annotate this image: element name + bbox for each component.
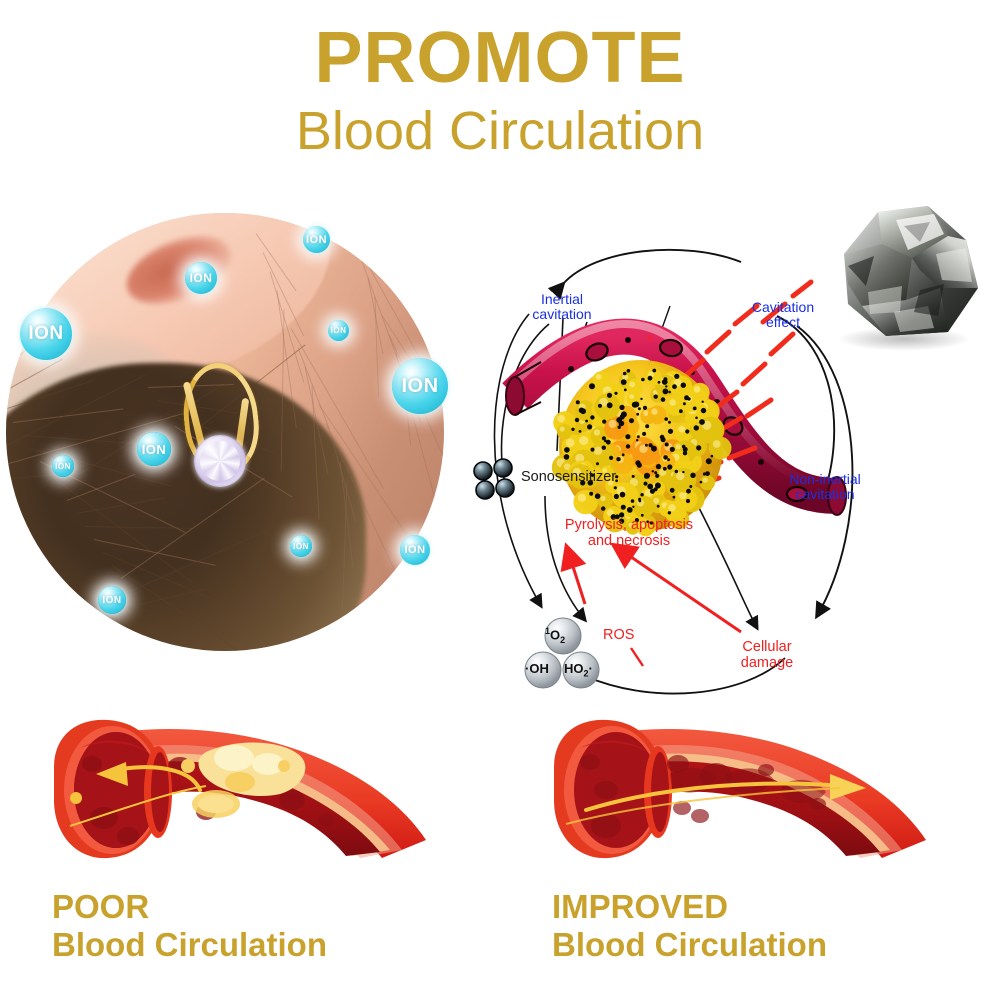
ion-bubble: ION [20,308,72,360]
label-sonosensitizer: Sonosensitizer [521,470,616,486]
improved-circulation-vessel-illustration [530,708,950,868]
poor-caption-top: POOR [52,890,327,924]
improved-caption-bottom: Blood Circulation [552,927,827,963]
ion-bubble: ION [328,320,349,341]
label-line2: cavitation [532,306,591,322]
ion-bubble: ION [392,358,448,414]
label-line1: Cavitation [752,299,814,315]
infographic-root: PROMOTE Blood Circulation IONIONIONIONIO… [0,0,1000,1000]
label-line1: Inertial [541,291,583,307]
poor-circulation-caption: POOR Blood Circulation [52,890,327,963]
improved-circulation-caption: IMPROVED Blood Circulation [552,890,827,963]
label-line1: Pyrolysis, apoptosis [565,517,693,533]
diagram-graphics [445,196,915,696]
label-pyrolysis-apoptosis-necrosis: Pyrolysis, apoptosis and necrosis [549,518,709,549]
sonodynamic-diagram: Inertial cavitation Cavitation effect No… [445,196,915,696]
ion-bubble: ION [290,535,312,557]
ion-bubble: ION [303,226,330,253]
label-line1: Non-inertial [789,471,861,487]
ion-bubble: ION [137,432,171,466]
radical-dot: · [589,661,593,676]
poor-caption-bottom: Blood Circulation [52,927,327,963]
label-cavitation-effect: Cavitation effect [735,300,831,330]
ear-photo [6,213,444,651]
molecule-hydroperoxyl: HO2· [564,662,593,679]
label-line2: cavitation [795,486,854,502]
molecule-hydroxyl-radical: ·OH [525,662,549,676]
earring-gemstone [194,435,246,487]
ion-bubble: ION [400,535,430,565]
base: O [550,627,560,642]
label-inertial-cavitation: Inertial cavitation [519,292,605,322]
page-subtitle: Blood Circulation [0,100,1000,162]
label-ros: ROS [603,628,634,644]
label-line2: effect [766,314,800,330]
poor-circulation-vessel-illustration [30,708,450,868]
molecule-singlet-oxygen: 1O2 [545,627,565,646]
label-line2: damage [741,655,793,671]
subscript: 2 [560,635,565,645]
page-title: PROMOTE [0,22,1000,94]
header: PROMOTE Blood Circulation [0,0,1000,162]
label-line2: and necrosis [588,533,670,549]
ion-bubble: ION [52,455,74,477]
improved-caption-top: IMPROVED [552,890,827,924]
ion-bubble: ION [185,262,217,294]
label-line1: Cellular [742,639,791,655]
label-non-inertial-cavitation: Non-inertial cavitation [773,472,877,502]
ion-bubble: ION [98,586,126,614]
label-cellular-damage: Cellular damage [731,640,803,671]
ear-photo-circle [6,213,444,651]
base: HO [564,661,584,676]
